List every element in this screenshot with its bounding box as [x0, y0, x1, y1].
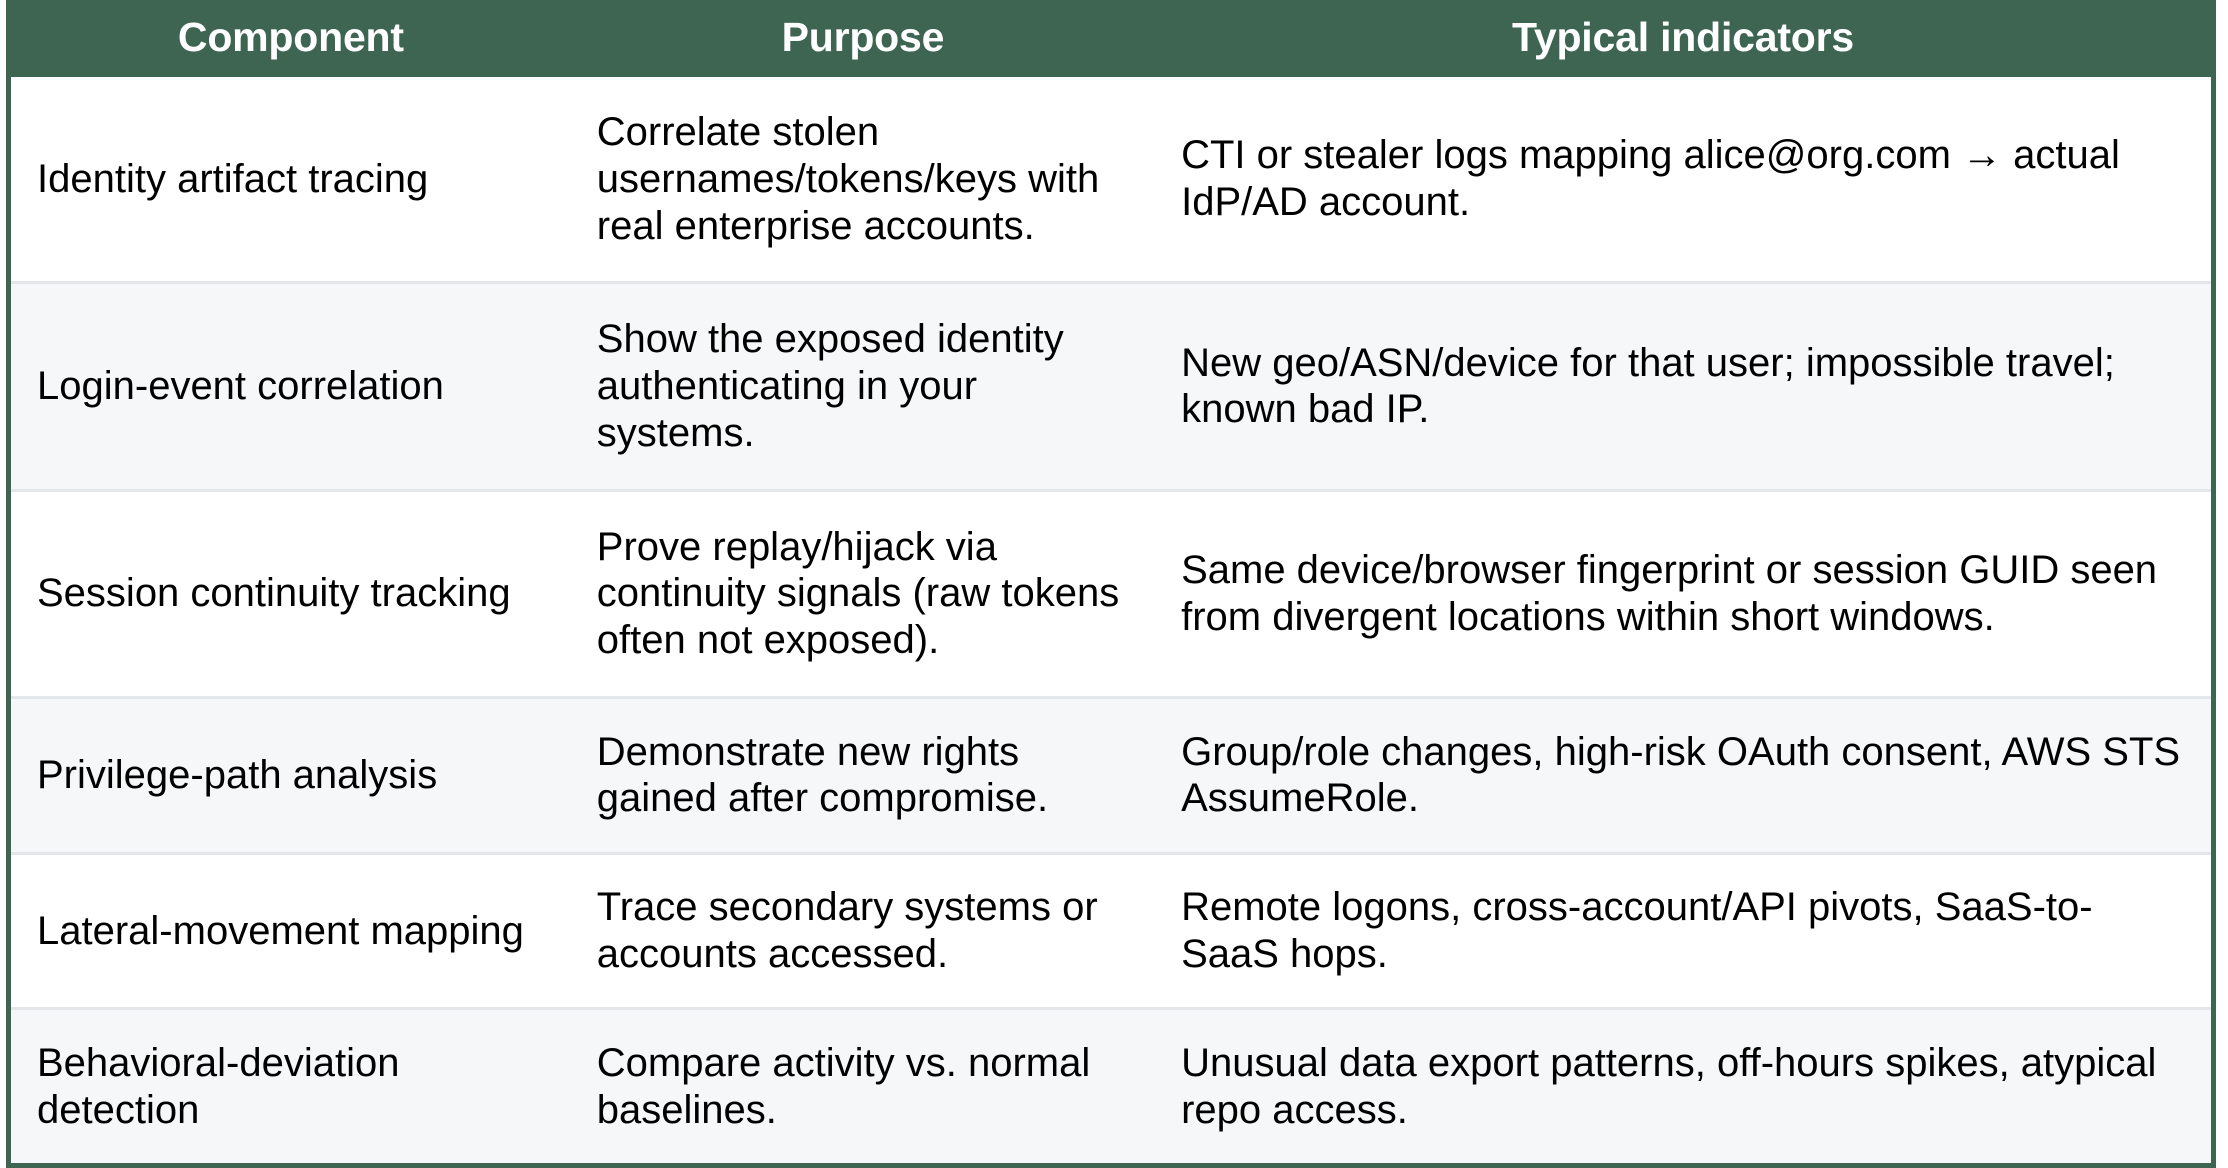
column-header-purpose: Purpose: [571, 0, 1155, 77]
header-row: Component Purpose Typical indicators: [9, 0, 2214, 77]
cell-purpose: Correlate stolen usernames/tokens/keys w…: [571, 77, 1155, 283]
cell-typical-indicators: Remote logons, cross-account/API pivots,…: [1155, 853, 2213, 1009]
table-row: Privilege-path analysis Demonstrate new …: [9, 698, 2214, 854]
cell-typical-indicators: Same device/browser fingerprint or sessi…: [1155, 490, 2213, 697]
cell-purpose: Compare activity vs. normal baselines.: [571, 1009, 1155, 1166]
cell-typical-indicators: Unusual data export patterns, off-hours …: [1155, 1009, 2213, 1166]
table-container: Component Purpose Typical indicators Ide…: [0, 0, 2228, 1168]
table-row: Session continuity tracking Prove replay…: [9, 490, 2214, 697]
cell-purpose: Demonstrate new rights gained after comp…: [571, 698, 1155, 854]
table-header: Component Purpose Typical indicators: [9, 0, 2214, 77]
cell-purpose: Show the exposed identity authenticating…: [571, 283, 1155, 490]
cell-component: Session continuity tracking: [9, 490, 571, 697]
table-row: Lateral-movement mapping Trace secondary…: [9, 853, 2214, 1009]
column-header-component: Component: [9, 0, 571, 77]
column-header-typical-indicators: Typical indicators: [1155, 0, 2213, 77]
table-row: Identity artifact tracing Correlate stol…: [9, 77, 2214, 283]
cell-component: Privilege-path analysis: [9, 698, 571, 854]
incident-response-components-table: Component Purpose Typical indicators Ide…: [6, 0, 2216, 1168]
table-row: Login-event correlation Show the exposed…: [9, 283, 2214, 490]
table-body: Identity artifact tracing Correlate stol…: [9, 77, 2214, 1166]
cell-component: Behavioral-deviation detection: [9, 1009, 571, 1166]
cell-typical-indicators: New geo/ASN/device for that user; imposs…: [1155, 283, 2213, 490]
cell-purpose: Trace secondary systems or accounts acce…: [571, 853, 1155, 1009]
cell-component: Login-event correlation: [9, 283, 571, 490]
cell-purpose: Prove replay/hijack via continuity signa…: [571, 490, 1155, 697]
cell-typical-indicators: CTI or stealer logs mapping alice@org.co…: [1155, 77, 2213, 283]
cell-component: Identity artifact tracing: [9, 77, 571, 283]
cell-component: Lateral-movement mapping: [9, 853, 571, 1009]
table-row: Behavioral-deviation detection Compare a…: [9, 1009, 2214, 1166]
cell-typical-indicators: Group/role changes, high-risk OAuth cons…: [1155, 698, 2213, 854]
